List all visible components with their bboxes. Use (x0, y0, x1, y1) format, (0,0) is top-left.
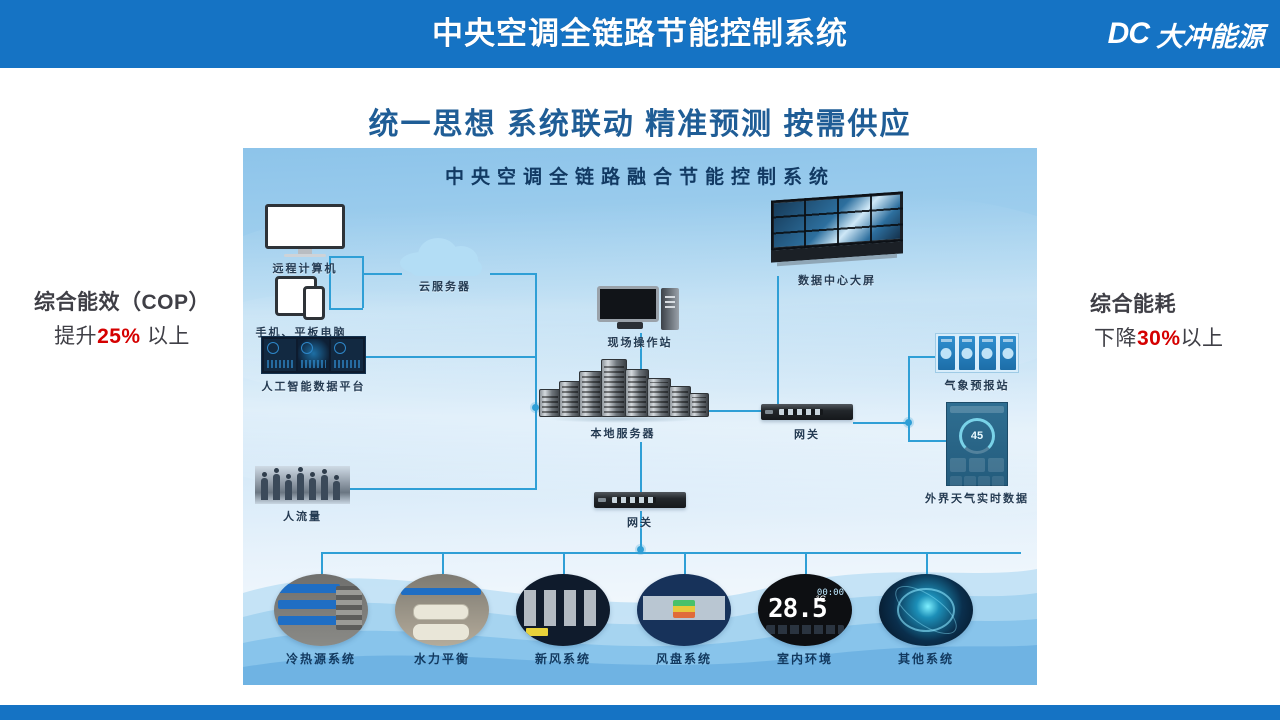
node-remote-computer[interactable]: 远程计算机 (265, 204, 345, 256)
callout-energy-suffix: 以上 (1181, 327, 1224, 350)
callout-energy-title: 综合能耗 (1090, 288, 1280, 318)
page-title: 中央空调全链路节能控制系统 (0, 0, 1280, 68)
subsystem-label-1: 水力平衡 (414, 650, 470, 667)
callout-cop-suffix: 以上 (147, 325, 190, 348)
node-outdoor-weather[interactable]: 45 外界天气实时数据 (946, 402, 1008, 486)
node-label-data-center-screen: 数据中心大屏 (798, 272, 876, 288)
cloud-icon (400, 236, 490, 274)
fresh-air-icon (516, 574, 610, 646)
subsystem-label-3: 风盘系统 (656, 650, 712, 667)
connector-left-bus-vertical (362, 256, 364, 308)
callout-energy: 综合能耗 下降30%以上 (1090, 288, 1280, 352)
node-people-flow[interactable]: 人流量 (255, 466, 350, 504)
node-weather-station[interactable]: 气象预报站 (935, 333, 1019, 373)
node-gateway-right[interactable]: 网关 (761, 404, 853, 420)
callout-energy-prefix: 下降 (1094, 327, 1137, 350)
node-gateway-bottom[interactable]: 网关 (594, 492, 686, 508)
node-label-remote-computer: 远程计算机 (273, 260, 338, 276)
subsystem-label-2: 新风系统 (535, 650, 591, 667)
subsystem-hydraulic-balance[interactable]: 水力平衡 (395, 574, 489, 646)
weather-dashboard-icon: 45 (946, 402, 1008, 486)
fan-coil-icon (637, 574, 731, 646)
slogan-subtitle: 统一思想 系统联动 精准预测 按需供应 (0, 99, 1280, 143)
thermostat-unit: °C (816, 594, 826, 604)
gateway-icon (761, 404, 853, 420)
subsystem-other[interactable]: 其他系统 (879, 574, 973, 646)
monitor-icon (265, 204, 345, 256)
weather-forecast-icon (935, 333, 1019, 373)
logo-text: 大冲能源 (1156, 15, 1264, 54)
junction-dot-right (905, 419, 912, 426)
subsystem-label-4: 室内环境 (777, 650, 833, 667)
desktop-pc-icon (597, 286, 683, 332)
connector-remote-horizontal (329, 256, 363, 258)
node-label-ai-platform: 人工智能数据平台 (262, 378, 366, 394)
node-label-weather-station: 气象预报站 (945, 377, 1010, 393)
callout-cop-value: 25% (97, 325, 141, 348)
logo-mark: DC (1108, 17, 1149, 51)
connector-people-to-center (348, 488, 535, 490)
connector-gateway-right-in (853, 422, 908, 424)
node-label-operator-station: 现场操作站 (608, 334, 673, 350)
cold-heat-source-icon (274, 574, 368, 646)
thermostat-button-bar (766, 625, 844, 634)
thermostat-icon: 00:00 28.5 °C (758, 574, 852, 646)
people-flow-icon (255, 466, 350, 504)
callout-energy-value-line: 下降30%以上 (1094, 322, 1280, 352)
connector-branch-4 (684, 552, 686, 574)
node-label-gateway-right: 网关 (794, 426, 820, 442)
hydraulic-balance-icon (395, 574, 489, 646)
connector-branch-3 (563, 552, 565, 574)
ai-dashboard-icon (261, 336, 366, 374)
company-logo: DC 大冲能源 (1108, 14, 1264, 54)
node-label-people-flow: 人流量 (283, 508, 322, 524)
node-label-cloud-server: 云服务器 (419, 278, 471, 294)
connector-branch-5 (805, 552, 807, 574)
callout-cop: 综合能效（COP） 提升25% 以上 (12, 286, 232, 350)
node-label-local-server: 本地服务器 (591, 425, 656, 441)
connector-bus-to-cloud (362, 273, 402, 275)
weather-gauge-value: 45 (959, 418, 995, 454)
connector-cloud-to-center (490, 273, 536, 275)
callout-cop-value-line: 提升25% 以上 (12, 320, 232, 350)
callout-cop-title: 综合能效（COP） (12, 286, 232, 316)
node-label-gateway-bottom: 网关 (627, 514, 653, 530)
subsystem-label-0: 冷热源系统 (286, 650, 356, 667)
other-systems-icon (879, 574, 973, 646)
subsystem-cold-heat-source[interactable]: 冷热源系统 (274, 574, 368, 646)
connector-branch-6 (926, 552, 928, 574)
connector-center-to-gateway-bottom (640, 442, 642, 494)
callout-cop-prefix: 提升 (54, 325, 97, 348)
connector-gateway-right-vertical (908, 356, 910, 422)
node-mobile-tablet[interactable]: 手机、平板电脑 (275, 276, 337, 322)
subsystem-fan-coil[interactable]: 风盘系统 (637, 574, 731, 646)
phone-tablet-icon (275, 276, 337, 322)
node-data-center-screen[interactable]: 数据中心大屏 (771, 196, 903, 264)
connector-center-left-down (535, 412, 537, 490)
node-ai-platform[interactable]: 人工智能数据平台 (261, 336, 366, 374)
node-operator-station[interactable]: 现场操作站 (597, 286, 683, 332)
app-header: 中央空调全链路节能控制系统 DC 大冲能源 (0, 0, 1280, 68)
node-cloud-server[interactable]: 云服务器 (400, 236, 490, 274)
subsystem-indoor-environment[interactable]: 00:00 28.5 °C 室内环境 (758, 574, 852, 646)
server-stack-icon (533, 353, 713, 423)
connector-branch-1 (321, 552, 323, 574)
video-wall-icon (771, 191, 903, 268)
footer-bar (0, 705, 1280, 720)
connector-bigscreen-down (777, 276, 779, 411)
node-local-server[interactable]: 本地服务器 (533, 353, 713, 423)
connector-bottom-bus (321, 552, 1021, 554)
subsystem-fresh-air[interactable]: 新风系统 (516, 574, 610, 646)
diagram-title: 中央空调全链路融合节能控制系统 (243, 162, 1037, 189)
gateway-icon-bottom (594, 492, 686, 508)
node-label-outdoor-weather: 外界天气实时数据 (925, 490, 1029, 506)
callout-energy-value: 30% (1137, 327, 1181, 350)
subsystem-label-5: 其他系统 (898, 650, 954, 667)
connector-branch-2 (442, 552, 444, 574)
system-diagram: 中央空调全链路融合节能控制系统 远程计算机 手机 (243, 148, 1037, 685)
connector-ai-to-center (362, 356, 536, 358)
